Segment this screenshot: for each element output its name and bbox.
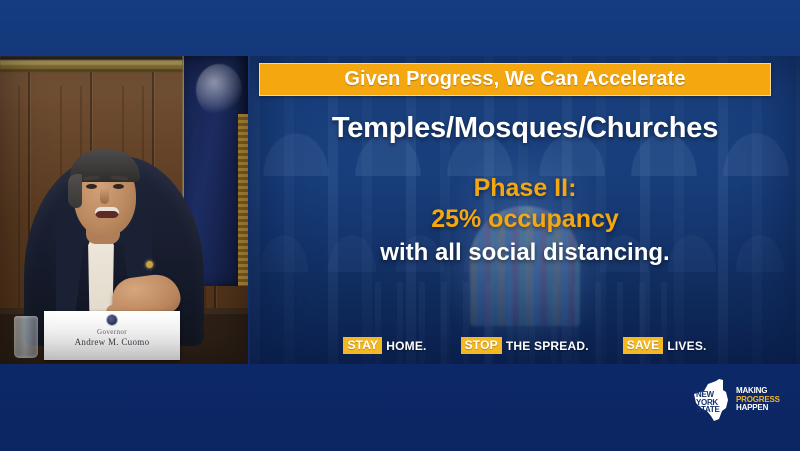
slide-subject-line: Temples/Mosques/Churches (250, 112, 800, 145)
name-plate-name: Andrew M. Cuomo (44, 337, 180, 347)
slide-detail-phase: Phase II: (250, 173, 800, 204)
state-seal-icon (106, 314, 118, 326)
lapel-pin-icon (146, 261, 153, 268)
ny-state-wordmark: NEW YORK STATE (696, 391, 720, 414)
broadcast-frame: Governor Andrew M. Cuomo Given Progress,… (0, 0, 800, 451)
slide-headline-banner: Given Progress, We Can Accelerate (259, 63, 771, 96)
flag-fringe (238, 114, 248, 286)
water-glass (14, 316, 38, 358)
name-plate: Governor Andrew M. Cuomo (44, 311, 180, 360)
name-plate-title: Governor (44, 328, 180, 336)
speaker-nose (100, 188, 109, 204)
slide-detail-distancing: with all social distancing. (250, 237, 800, 268)
ny-state-outline-icon: NEW YORK STATE (692, 378, 738, 422)
tagline-rest-home: HOME. (386, 339, 426, 353)
tagline-highlight-stay: STAY (343, 337, 382, 354)
slide-headline-text: Given Progress, We Can Accelerate (344, 68, 685, 91)
new-york-state-logo: NEW YORK STATE MAKING PROGRESS HAPPEN (692, 377, 788, 423)
logo-tagline: MAKING PROGRESS HAPPEN (736, 387, 780, 413)
tagline-highlight-save: SAVE (623, 337, 664, 354)
flag-seal (196, 64, 242, 116)
logo-state: STATE (696, 406, 720, 414)
speaker-eye-left (86, 184, 97, 189)
slide-detail-occupancy: 25% occupancy (250, 204, 800, 235)
slide-detail-block: Phase II: 25% occupancy with all social … (250, 173, 800, 268)
speaker-eye-right (113, 184, 124, 189)
speaker-mouth (95, 207, 119, 218)
video-feed-panel[interactable]: Governor Andrew M. Cuomo (0, 56, 248, 364)
tagline-item-stay-home: STAY HOME. (343, 337, 426, 354)
tagline-item-save-lives: SAVE LIVES. (623, 337, 707, 354)
logo-happen: HAPPEN (736, 404, 780, 413)
presentation-slide[interactable]: Given Progress, We Can Accelerate Temple… (250, 56, 800, 364)
tagline-highlight-stop: STOP (461, 337, 502, 354)
speaker-hair-side (68, 174, 82, 208)
tagline-rest-the-spread: THE SPREAD. (506, 339, 589, 353)
public-health-tagline: STAY HOME. STOP THE SPREAD. SAVE LIVES. (250, 337, 800, 354)
tagline-rest-lives: LIVES. (667, 339, 706, 353)
tagline-item-stop-spread: STOP THE SPREAD. (461, 337, 589, 354)
